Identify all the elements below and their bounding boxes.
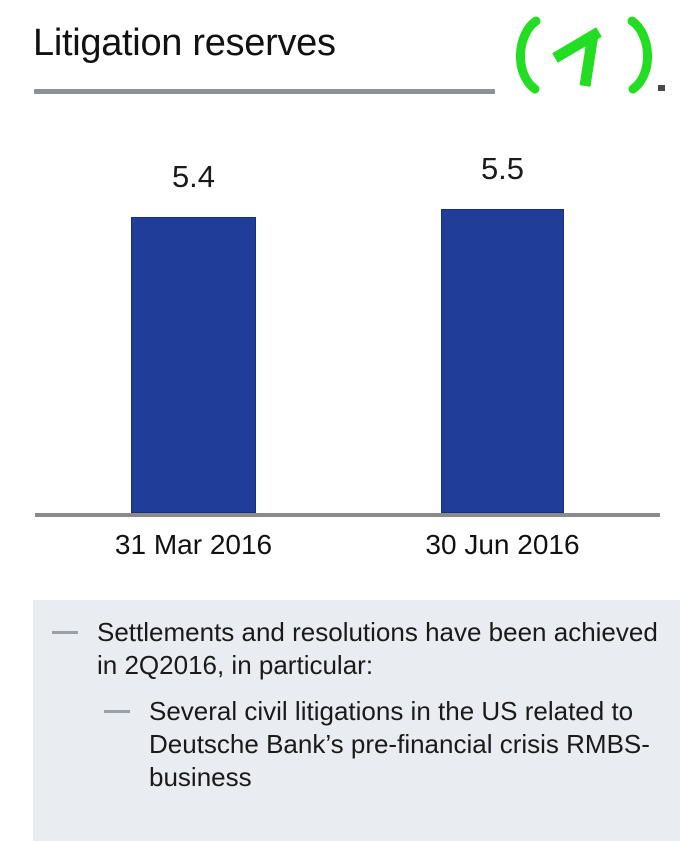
page-title: Litigation reserves xyxy=(33,20,336,66)
dash-bullet-icon xyxy=(104,710,130,713)
title-underline-rule xyxy=(34,89,495,94)
dash-bullet-icon xyxy=(52,631,78,634)
litigation-reserves-bar-chart: 5.4 5.5 31 Mar 2016 30 Jun 2016 xyxy=(0,110,680,590)
bullet-text: Settlements and resolutions have been ac… xyxy=(97,616,664,682)
bar-value-label: 5.5 xyxy=(441,152,564,186)
chart-plot-area: 5.4 5.5 31 Mar 2016 30 Jun 2016 xyxy=(0,110,680,520)
bar-31-mar-2016 xyxy=(131,217,256,513)
x-axis-category-label: 31 Mar 2016 xyxy=(91,528,296,562)
bar-30-jun-2016 xyxy=(441,209,564,513)
bullet-text: Several civil litigations in the US rela… xyxy=(149,695,664,794)
bullet-item-level-2: Several civil litigations in the US rela… xyxy=(104,695,664,794)
slide-header: Litigation reserves xyxy=(0,0,680,110)
trademark-mark-icon xyxy=(658,85,665,91)
x-axis-line xyxy=(35,513,660,517)
bar-value-label: 5.4 xyxy=(131,160,256,194)
commentary-panel: Settlements and resolutions have been ac… xyxy=(33,600,680,841)
x-axis-category-label: 30 Jun 2016 xyxy=(400,528,605,562)
bullet-item-level-1: Settlements and resolutions have been ac… xyxy=(52,616,664,682)
green-arrow-in-parentheses-logo xyxy=(495,14,655,96)
